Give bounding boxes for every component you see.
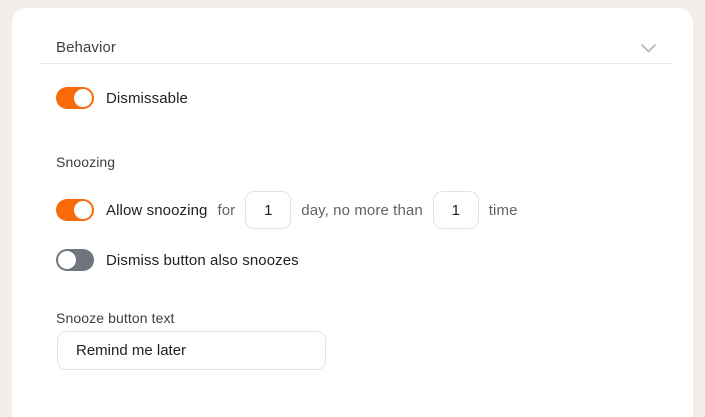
snooze-days-input[interactable] bbox=[245, 191, 291, 229]
toggle-knob bbox=[58, 251, 76, 269]
card-header: Behavior bbox=[12, 8, 693, 63]
dismissable-row: Dismissable bbox=[56, 87, 188, 109]
snooze-days-unit-text: day, no more than bbox=[301, 202, 423, 219]
collapse-section-button[interactable] bbox=[626, 34, 670, 62]
snooze-times-input[interactable] bbox=[433, 191, 479, 229]
allow-snoozing-row: Allow snoozing for day, no more than tim… bbox=[56, 191, 518, 229]
screen-root: Behavior Dismissable Snoozing bbox=[0, 0, 705, 417]
chevron-down-icon bbox=[641, 44, 656, 53]
snooze-button-text-label: Snooze button text bbox=[56, 310, 175, 326]
dismissable-toggle[interactable] bbox=[56, 87, 94, 109]
allow-snoozing-label: Allow snoozing bbox=[106, 202, 207, 219]
allow-snoozing-for-text: for bbox=[217, 202, 235, 219]
dismissable-label: Dismissable bbox=[106, 90, 188, 107]
toggle-knob bbox=[74, 89, 92, 107]
dismiss-also-snoozes-row: Dismiss button also snoozes bbox=[56, 249, 299, 271]
dismiss-also-snoozes-toggle[interactable] bbox=[56, 249, 94, 271]
page-title: Behavior bbox=[56, 39, 116, 56]
allow-snoozing-toggle[interactable] bbox=[56, 199, 94, 221]
toggle-knob bbox=[74, 201, 92, 219]
snooze-button-text-input[interactable] bbox=[57, 331, 326, 370]
snoozing-group-label: Snoozing bbox=[56, 154, 115, 170]
snooze-times-unit-text: time bbox=[489, 202, 518, 219]
header-divider bbox=[40, 63, 672, 64]
dismiss-also-snoozes-label: Dismiss button also snoozes bbox=[106, 252, 299, 269]
behavior-settings-card: Behavior Dismissable Snoozing bbox=[12, 8, 693, 417]
